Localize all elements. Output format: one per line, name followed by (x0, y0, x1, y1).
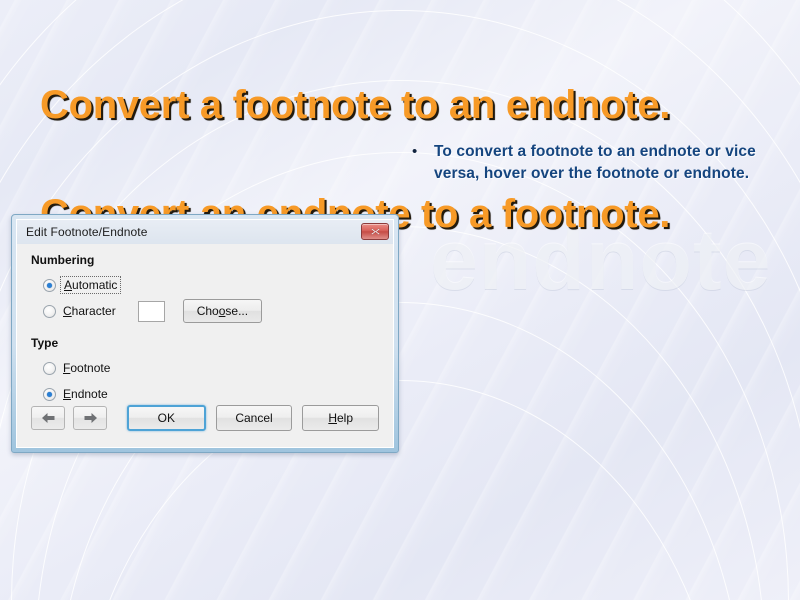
radio-footnote[interactable] (43, 362, 56, 375)
dialog-title-text: Edit Footnote/Endnote (26, 225, 148, 239)
dialog-inner-frame: Edit Footnote/Endnote Numbering Automati… (16, 219, 394, 448)
dialog-titlebar[interactable]: Edit Footnote/Endnote (17, 220, 393, 244)
bullet-marker-icon: • (408, 141, 434, 186)
numbering-group-label: Numbering (31, 253, 379, 267)
character-input[interactable] (138, 301, 165, 322)
bullet-list: • To convert a footnote to an endnote or… (408, 141, 780, 186)
slide-canvas: endnote Convert a footnote to an endnote… (0, 0, 800, 600)
radio-character-label: Character (63, 304, 116, 318)
type-group-label: Type (31, 336, 379, 350)
title-line-1: Convert a footnote to an endnote. (40, 78, 770, 132)
cancel-button[interactable]: Cancel (216, 405, 293, 431)
radio-endnote[interactable] (43, 388, 56, 401)
edit-footnote-endnote-dialog: Edit Footnote/Endnote Numbering Automati… (11, 214, 399, 453)
radio-footnote-label: Footnote (63, 361, 110, 375)
next-arrow-icon[interactable] (73, 406, 107, 430)
dialog-body: Numbering Automatic Character Choose... … (17, 244, 393, 447)
radio-character[interactable] (43, 305, 56, 318)
choose-button[interactable]: Choose... (183, 299, 262, 323)
radio-row-character[interactable]: Character Choose... (31, 300, 379, 322)
radio-row-endnote[interactable]: Endnote (31, 383, 379, 405)
previous-arrow-icon[interactable] (31, 406, 65, 430)
radio-row-footnote[interactable]: Footnote (31, 357, 379, 379)
ok-button[interactable]: OK (127, 405, 206, 431)
dialog-button-row: OK Cancel Help (31, 405, 379, 431)
radio-automatic[interactable] (43, 279, 56, 292)
close-icon[interactable] (361, 223, 389, 240)
help-button[interactable]: Help (302, 405, 379, 431)
bullet-item-text: To convert a footnote to an endnote or v… (434, 141, 780, 186)
radio-automatic-label: Automatic (60, 276, 121, 294)
radio-row-automatic[interactable]: Automatic (31, 274, 379, 296)
radio-endnote-label: Endnote (63, 387, 108, 401)
